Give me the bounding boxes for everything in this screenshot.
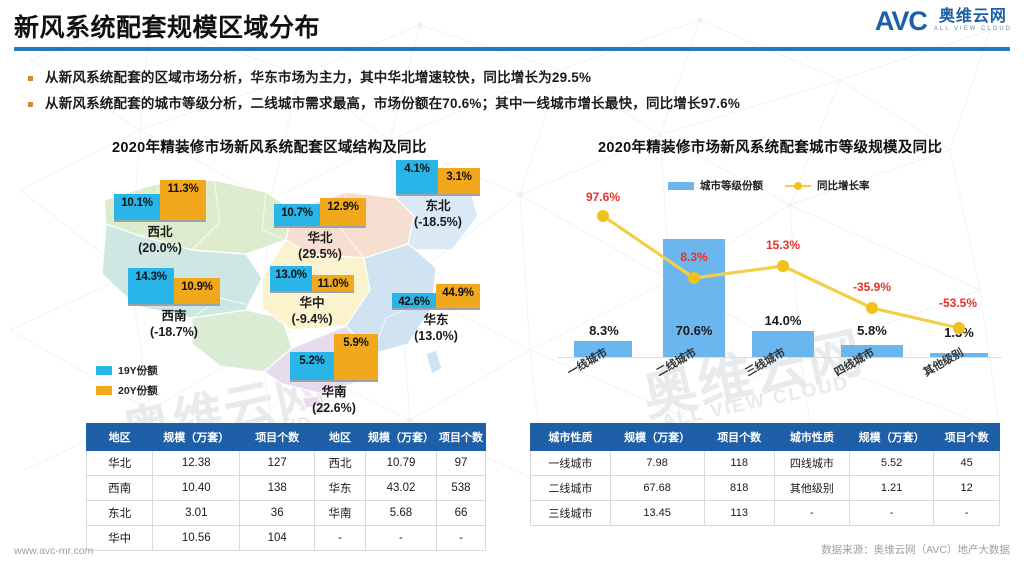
- table-cell: 12.38: [153, 451, 240, 476]
- table-cell: 华中: [87, 526, 153, 551]
- table-cell: 43.02: [365, 476, 436, 501]
- list-item: 从新风系统配套的区域市场分析，华东市场为主力，其中华北增速较快，同比增长为29.…: [28, 68, 740, 89]
- bar-baseline: [114, 220, 206, 222]
- growth-line-series: [558, 204, 1002, 356]
- table-header-cell: 规模（万套）: [849, 424, 933, 451]
- table-cell: 西北: [315, 451, 366, 476]
- table-header-cell: 规模（万套）: [365, 424, 436, 451]
- map-region-label-dongbei: 东北 (-18.5%): [396, 199, 480, 230]
- city-tier-combo-chart: 城市等级份额 同比增长率 8.3% 70.6% 14.0% 5.8% 1.3%: [540, 170, 1010, 416]
- region-data-table: 地区 规模（万套） 项目个数 地区 规模（万套） 项目个数 华北 12.38 1…: [86, 423, 486, 551]
- logo-mark-text: AVC: [875, 8, 927, 35]
- table-row: 西南 10.40 138 华东 43.02 538: [87, 476, 486, 501]
- bar-19y: 10.1%: [114, 194, 160, 220]
- growth-label-tier2: 8.3%: [654, 250, 734, 264]
- bullet-text: 从新风系统配套的区域市场分析，华东市场为主力，其中华北增速较快，同比增长为29.…: [45, 68, 591, 89]
- map-bar-group-xinan: 14.3% 10.9% 西南 (-18.7%): [128, 268, 220, 340]
- table-cell: 三线城市: [531, 501, 611, 526]
- table-header-cell: 项目个数: [436, 424, 485, 451]
- map-region-label-huazhong: 华中 (-9.4%): [270, 296, 354, 327]
- map-region-label-xibei: 西北 (20.0%): [114, 225, 206, 256]
- table-cell: 四线城市: [774, 451, 849, 476]
- table-cell: 113: [704, 501, 774, 526]
- table-cell: 东北: [87, 501, 153, 526]
- table-header-cell: 规模（万套）: [610, 424, 704, 451]
- bar-pair: 4.1% 3.1%: [396, 160, 480, 194]
- table-header-row: 地区 规模（万套） 项目个数 地区 规模（万套） 项目个数: [87, 424, 486, 451]
- table-header-row: 城市性质 规模（万套） 项目个数 城市性质 规模（万套） 项目个数: [531, 424, 1000, 451]
- bar-19y: 42.6%: [392, 293, 436, 308]
- bar-pair: 5.2% 5.9%: [290, 334, 378, 380]
- bar-baseline: [274, 226, 366, 228]
- map-region-label-huanan: 华南 (22.6%): [290, 385, 378, 416]
- table-row: 华北 12.38 127 西北 10.79 97: [87, 451, 486, 476]
- bar-baseline: [392, 308, 480, 310]
- table-cell: 西南: [87, 476, 153, 501]
- legend-bar-swatch-icon: [668, 182, 694, 190]
- bar-baseline: [128, 304, 220, 306]
- table-cell: 12: [934, 476, 1000, 501]
- table-cell: 1.21: [849, 476, 933, 501]
- legend-swatch-icon: [96, 386, 112, 395]
- table-cell: -: [934, 501, 1000, 526]
- table-header-cell: 项目个数: [240, 424, 315, 451]
- table-row: 三线城市 13.45 113 - - -: [531, 501, 1000, 526]
- bullet-list: 从新风系统配套的区域市场分析，华东市场为主力，其中华北增速较快，同比增长为29.…: [28, 68, 740, 120]
- bar-19y: 10.7%: [274, 204, 320, 226]
- bar-20y: 11.3%: [160, 180, 206, 220]
- table-cell: 10.40: [153, 476, 240, 501]
- left-chart-title: 2020年精装修市场新风系统配套区域结构及同比: [112, 136, 427, 157]
- table-cell: 3.01: [153, 501, 240, 526]
- growth-label-tier4: -35.9%: [832, 280, 912, 294]
- table-cell: 818: [704, 476, 774, 501]
- legend-item-20y: 20Y份额: [96, 383, 158, 398]
- map-bar-group-xibei: 10.1% 11.3% 西北 (20.0%): [114, 180, 206, 256]
- map-bar-group-huadong: 42.6% 44.9% 华东 (13.0%): [392, 284, 480, 344]
- table-cell: 二线城市: [531, 476, 611, 501]
- legend-line-marker-icon: [785, 185, 811, 187]
- table-cell: 华南: [315, 501, 366, 526]
- table-row: 东北 3.01 36 华南 5.68 66: [87, 501, 486, 526]
- table-cell: 538: [436, 476, 485, 501]
- table-cell: 华北: [87, 451, 153, 476]
- bar-20y: 3.1%: [438, 168, 480, 194]
- bar-pair: 10.1% 11.3%: [114, 180, 206, 220]
- china-map-chart: 10.1% 11.3% 西北 (20.0%) 10.7% 12.9%: [96, 158, 516, 416]
- map-bar-group-huazhong: 13.0% 11.0% 华中 (-9.4%): [270, 266, 354, 327]
- bar-19y: 13.0%: [270, 266, 312, 291]
- table-cell: 45: [934, 451, 1000, 476]
- bar-baseline: [396, 194, 480, 196]
- table-cell: -: [365, 526, 436, 551]
- table-cell: 华东: [315, 476, 366, 501]
- table-cell: -: [436, 526, 485, 551]
- map-region-label-xinan: 西南 (-18.7%): [128, 309, 220, 340]
- logo-name-cn: 奥维云网: [939, 9, 1007, 26]
- table-cell: 104: [240, 526, 315, 551]
- table-cell: 13.45: [610, 501, 704, 526]
- bar-pair: 10.7% 12.9%: [274, 198, 366, 226]
- table-cell: 10.79: [365, 451, 436, 476]
- slide-root: 奥维云网 ALL VIEW CLOUD 奥维云网 ALL VIEW CLOUD …: [0, 0, 1024, 569]
- bar-19y: 14.3%: [128, 268, 174, 304]
- bar-pair: 42.6% 44.9%: [392, 284, 480, 308]
- table-cell: 66: [436, 501, 485, 526]
- table-header-cell: 项目个数: [934, 424, 1000, 451]
- footer-source: 数据来源：奥维云网（AVC）地产大数据: [821, 542, 1010, 557]
- bar-19y: 5.2%: [290, 352, 334, 380]
- table-header-cell: 地区: [315, 424, 366, 451]
- map-bar-group-huanan: 5.2% 5.9% 华南 (22.6%): [290, 334, 378, 416]
- table-cell: -: [849, 501, 933, 526]
- growth-label-tier3: 15.3%: [743, 238, 823, 252]
- city-tier-data-table: 城市性质 规模（万套） 项目个数 城市性质 规模（万套） 项目个数 一线城市 7…: [530, 423, 1000, 526]
- bar-pair: 14.3% 10.9%: [128, 268, 220, 304]
- map-bar-group-huabei: 10.7% 12.9% 华北 (29.5%): [274, 198, 366, 262]
- page-title: 新风系统配套规模区域分布: [14, 8, 320, 44]
- chart-legend: 城市等级份额 同比增长率: [668, 178, 870, 193]
- avc-logo: AVC 奥维云网 ALL VIEW CLOUD: [875, 8, 1012, 35]
- map-region-label-huabei: 华北 (29.5%): [274, 231, 366, 262]
- table-cell: 67.68: [610, 476, 704, 501]
- map-legend: 19Y份额 20Y份额: [96, 363, 158, 403]
- table-cell: 138: [240, 476, 315, 501]
- table-header-cell: 城市性质: [774, 424, 849, 451]
- list-item: 从新风系统配套的城市等级分析，二线城市需求最高，市场份额在70.6%；其中一线城…: [28, 94, 740, 115]
- table-header-cell: 项目个数: [704, 424, 774, 451]
- table-cell: 5.52: [849, 451, 933, 476]
- bullet-square-icon: [28, 102, 33, 107]
- footer-website[interactable]: www.avc-mr.com: [14, 545, 93, 557]
- logo-name-en: ALL VIEW CLOUD: [934, 25, 1012, 34]
- table-row: 华中 10.56 104 - - -: [87, 526, 486, 551]
- map-bar-group-dongbei: 4.1% 3.1% 东北 (-18.5%): [396, 160, 480, 230]
- table-cell: 10.56: [153, 526, 240, 551]
- bar-20y: 44.9%: [436, 284, 480, 308]
- table-header-cell: 地区: [87, 424, 153, 451]
- table-cell: 一线城市: [531, 451, 611, 476]
- table-header-cell: 规模（万套）: [153, 424, 240, 451]
- table-cell: 7.98: [610, 451, 704, 476]
- table-cell: 其他级别: [774, 476, 849, 501]
- legend-swatch-icon: [96, 366, 112, 375]
- bar-19y: 4.1%: [396, 160, 438, 194]
- table-row: 二线城市 67.68 818 其他级别 1.21 12: [531, 476, 1000, 501]
- legend-item-19y: 19Y份额: [96, 363, 158, 378]
- bar-20y: 5.9%: [334, 334, 378, 380]
- table-cell: 36: [240, 501, 315, 526]
- growth-label-tier5: -53.5%: [918, 296, 998, 310]
- bar-pair: 13.0% 11.0%: [270, 266, 354, 291]
- table-row: 一线城市 7.98 118 四线城市 5.52 45: [531, 451, 1000, 476]
- table-cell: -: [774, 501, 849, 526]
- table-cell: 97: [436, 451, 485, 476]
- bar-20y: 10.9%: [174, 278, 220, 304]
- table-cell: -: [315, 526, 366, 551]
- bullet-square-icon: [28, 76, 33, 81]
- table-cell: 127: [240, 451, 315, 476]
- legend-item-share: 城市等级份额: [668, 178, 763, 193]
- table-cell: 5.68: [365, 501, 436, 526]
- table-cell: 118: [704, 451, 774, 476]
- title-divider: [14, 47, 1010, 51]
- right-chart-title: 2020年精装修市场新风系统配套城市等级规模及同比: [598, 136, 942, 157]
- bar-baseline: [290, 380, 378, 382]
- bullet-text: 从新风系统配套的城市等级分析，二线城市需求最高，市场份额在70.6%；其中一线城…: [45, 94, 740, 115]
- legend-item-growth: 同比增长率: [785, 178, 870, 193]
- chart-plot-area: 8.3% 70.6% 14.0% 5.8% 1.3% 97.6% 8.3% 15…: [558, 204, 1002, 358]
- table-header-cell: 城市性质: [531, 424, 611, 451]
- map-region-label-huadong: 华东 (13.0%): [392, 313, 480, 344]
- growth-label-tier1: 97.6%: [563, 190, 643, 204]
- bar-20y: 11.0%: [312, 275, 354, 291]
- bar-baseline: [270, 291, 354, 293]
- bar-20y: 12.9%: [320, 198, 366, 226]
- logo-wordmark: 奥维云网 ALL VIEW CLOUD: [934, 9, 1012, 35]
